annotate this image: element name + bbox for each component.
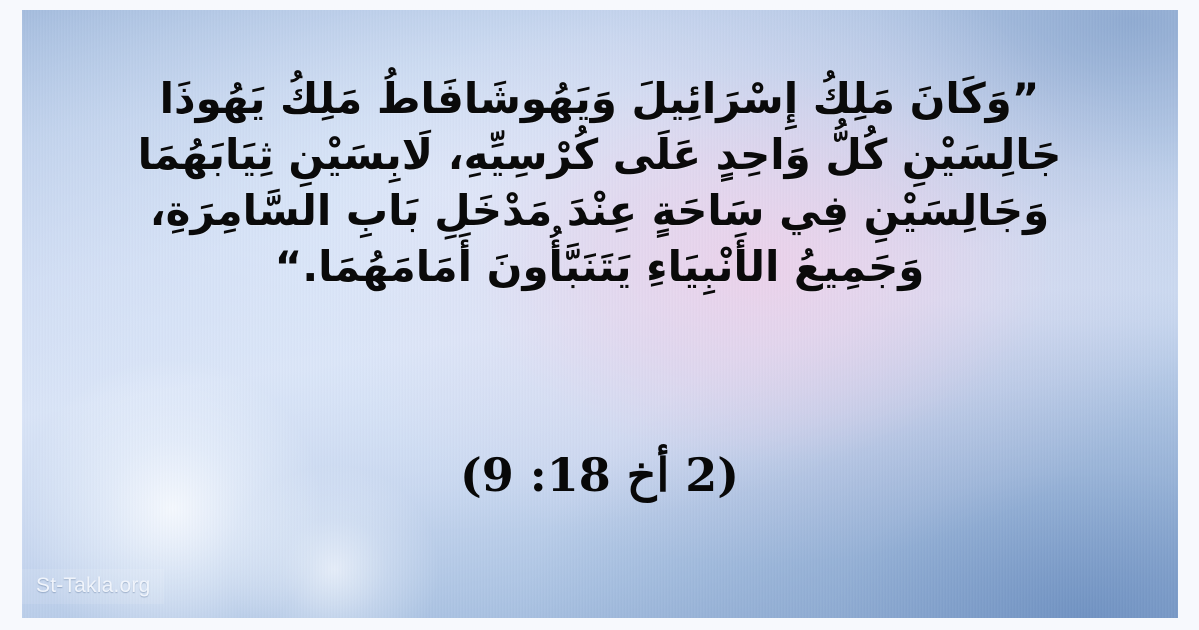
watermark-st-takla: St-Takla.org — [22, 569, 164, 604]
verse-image-card: ”وَكَانَ مَلِكُ إِسْرَائِيلَ وَيَهُوشَاف… — [0, 0, 1199, 630]
verse-line-1: ”وَكَانَ مَلِكُ إِسْرَائِيلَ وَيَهُوشَاف… — [0, 78, 1199, 120]
verse-text-block: ”وَكَانَ مَلِكُ إِسْرَائِيلَ وَيَهُوشَاف… — [0, 78, 1199, 302]
verse-line-4: وَجَمِيعُ الأَنْبِيَاءِ يَتَنَبَّأُونَ أ… — [0, 246, 1199, 288]
verse-line-2: جَالِسَيْنِ كُلُّ وَاحِدٍ عَلَى كُرْسِيِ… — [0, 134, 1199, 176]
verse-line-3: وَجَالِسَيْنِ فِي سَاحَةٍ عِنْدَ مَدْخَل… — [0, 190, 1199, 232]
verse-reference: (2 أخ 18: 9) — [0, 448, 1199, 502]
